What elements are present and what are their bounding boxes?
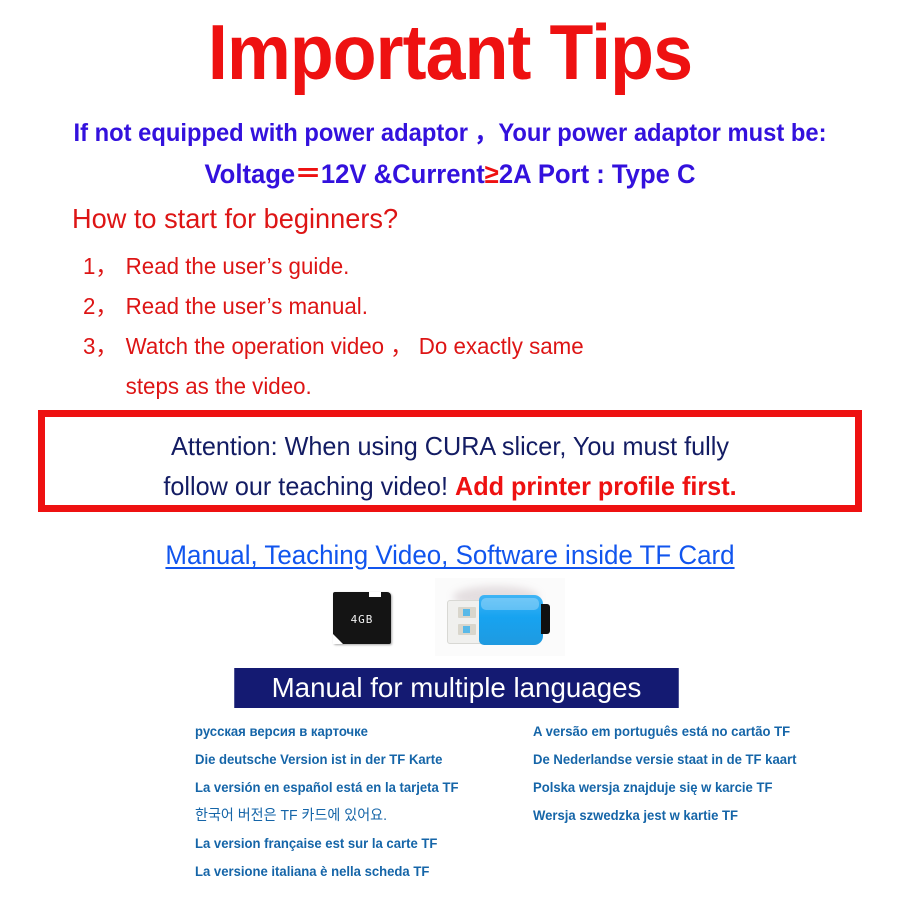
attention-callout-box: Attention: When using CURA slicer, You m… [38, 410, 862, 512]
reader-black-tip [541, 604, 550, 634]
page-title: Important Tips [36, 6, 864, 98]
card-capacity-label: 4GB [333, 613, 391, 626]
reader-pin [458, 624, 476, 635]
step-text-continuation: steps as the video. [126, 366, 584, 406]
list-item: A versão em português está no cartão TF [533, 718, 796, 746]
list-item: Wersja szwedzka jest w kartie TF [533, 802, 796, 830]
reader-gloss [481, 598, 539, 610]
microsd-card-image: 4GB [315, 578, 403, 656]
attention-line2-blue: follow our teaching video! [163, 471, 448, 501]
list-item: De Nederlandse versie staat in de TF kaa… [533, 746, 796, 774]
list-item: La version française est sur la carte TF [195, 830, 458, 858]
list-item: русская версия в карточке [195, 718, 458, 746]
voltage-value-current-label: 12V &Current [321, 159, 485, 189]
step-number: 1， [83, 246, 126, 286]
adaptor-requirement-line2: Voltage＝12V &Current≥2A Port : Type C [23, 157, 878, 191]
card-notch [369, 592, 381, 597]
attention-line2-red: Add printer profile first. [455, 471, 737, 501]
list-item: Die deutsche Version ist in der TF Karte [195, 746, 458, 774]
list-item: La versione italiana è nella scheda TF [195, 858, 458, 886]
list-item: 3， Watch the operation video ， Do exactl… [83, 326, 584, 366]
list-item: 2， Read the user’s manual. [83, 286, 584, 326]
microsd-card-icon: 4GB [333, 592, 391, 644]
greater-equal-symbol: ≥ [485, 159, 499, 189]
current-value-port: 2A Port : Type C [499, 159, 696, 189]
step-text: Read the user’s guide. [126, 246, 350, 286]
reader-pin [458, 607, 476, 618]
beginners-heading: How to start for beginners? [72, 201, 398, 237]
equals-symbol: ＝ [295, 159, 321, 189]
attention-text: Attention: When using CURA slicer, You m… [57, 426, 843, 506]
attention-line1: Attention: When using CURA slicer, You m… [171, 431, 729, 461]
card-bevel [333, 634, 343, 644]
step-text: Watch the operation video ， Do exactly s… [126, 326, 584, 366]
beginner-steps-list: 1， Read the user’s guide. 2， Read the us… [83, 246, 584, 406]
list-item: 1， Read the user’s guide. [83, 246, 584, 286]
step-text: Read the user’s manual. [126, 286, 368, 326]
language-list-left: русская версия в карточке Die deutsche V… [195, 718, 458, 886]
languages-banner: Manual for multiple languages [234, 668, 679, 708]
reader-blue-body [479, 595, 543, 645]
list-item: La versión en español está en la tarjeta… [195, 774, 458, 802]
tf-card-contents-link[interactable]: Manual, Teaching Video, Software inside … [18, 538, 882, 572]
voltage-label: Voltage [204, 159, 295, 189]
language-list-right: A versão em português está no cartão TF … [533, 718, 796, 830]
list-item: 한국어 버전은 TF 카드에 있어요. [195, 802, 458, 830]
adaptor-requirement-line1: If not equipped with power adaptor ，Your… [23, 117, 878, 149]
step-number: 3， [83, 326, 126, 366]
product-photos: 4GB [0, 578, 900, 656]
usb-card-reader-image [435, 578, 565, 656]
list-item: Polska wersja znajduje się w karcie TF [533, 774, 796, 802]
step-number: 2， [83, 286, 126, 326]
